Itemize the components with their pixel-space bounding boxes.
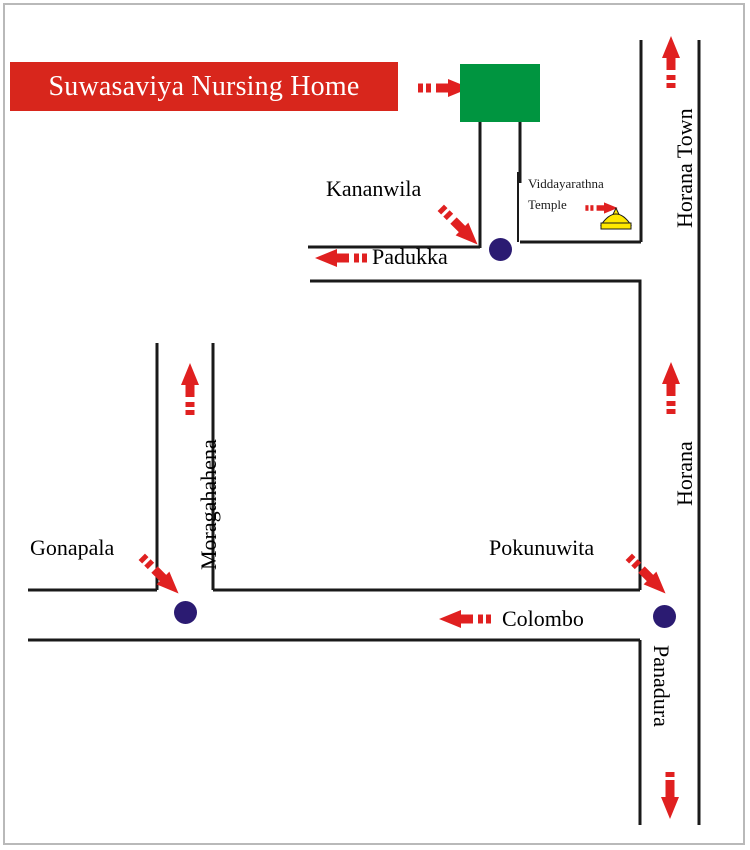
gonapala-arrow-icon bbox=[135, 550, 184, 599]
padukka-arrow-icon bbox=[315, 249, 367, 267]
padukka-junction-dot[interactable] bbox=[489, 238, 512, 261]
map-roads-layer bbox=[0, 0, 750, 850]
road-network bbox=[28, 40, 699, 825]
nursing-home-title-text: Suwasaviya Nursing Home bbox=[48, 71, 359, 103]
nursing-home-building-marker[interactable] bbox=[460, 64, 540, 122]
road-label-panadura: Panadura bbox=[650, 645, 672, 727]
temple-label-line1: Viddayarathna bbox=[528, 176, 604, 192]
road-label-horana: Horana bbox=[674, 441, 696, 506]
road-label-colombo: Colombo bbox=[502, 608, 584, 630]
pokunuwita-arrow-icon bbox=[622, 550, 671, 599]
nursing-home-title-banner: Suwasaviya Nursing Home bbox=[10, 62, 398, 111]
location-map: Suwasaviya Nursing Home Viddayarathna Te… bbox=[0, 0, 750, 850]
road-label-pokunuwita: Pokunuwita bbox=[489, 537, 594, 559]
road-label-gonapala: Gonapala bbox=[30, 537, 114, 559]
road-label-moragahahena: Moragahahena bbox=[198, 439, 220, 570]
pokunuwita-junction-dot[interactable] bbox=[653, 605, 676, 628]
direction-arrows bbox=[135, 36, 680, 819]
colombo-arrow-icon bbox=[439, 610, 491, 628]
panadura-arrow-icon bbox=[661, 772, 679, 819]
temple-label-line2: Temple bbox=[528, 197, 567, 213]
horana-arrow-icon bbox=[662, 362, 680, 414]
road-label-padukka: Padukka bbox=[372, 246, 448, 268]
road-label-horana-town: Horana Town bbox=[674, 108, 696, 228]
horana-town-arrow-icon bbox=[662, 36, 680, 88]
moragahahena-arrow-icon bbox=[181, 363, 199, 415]
gonapala-junction-dot[interactable] bbox=[174, 601, 197, 624]
road-label-kananwila: Kananwila bbox=[326, 178, 421, 200]
